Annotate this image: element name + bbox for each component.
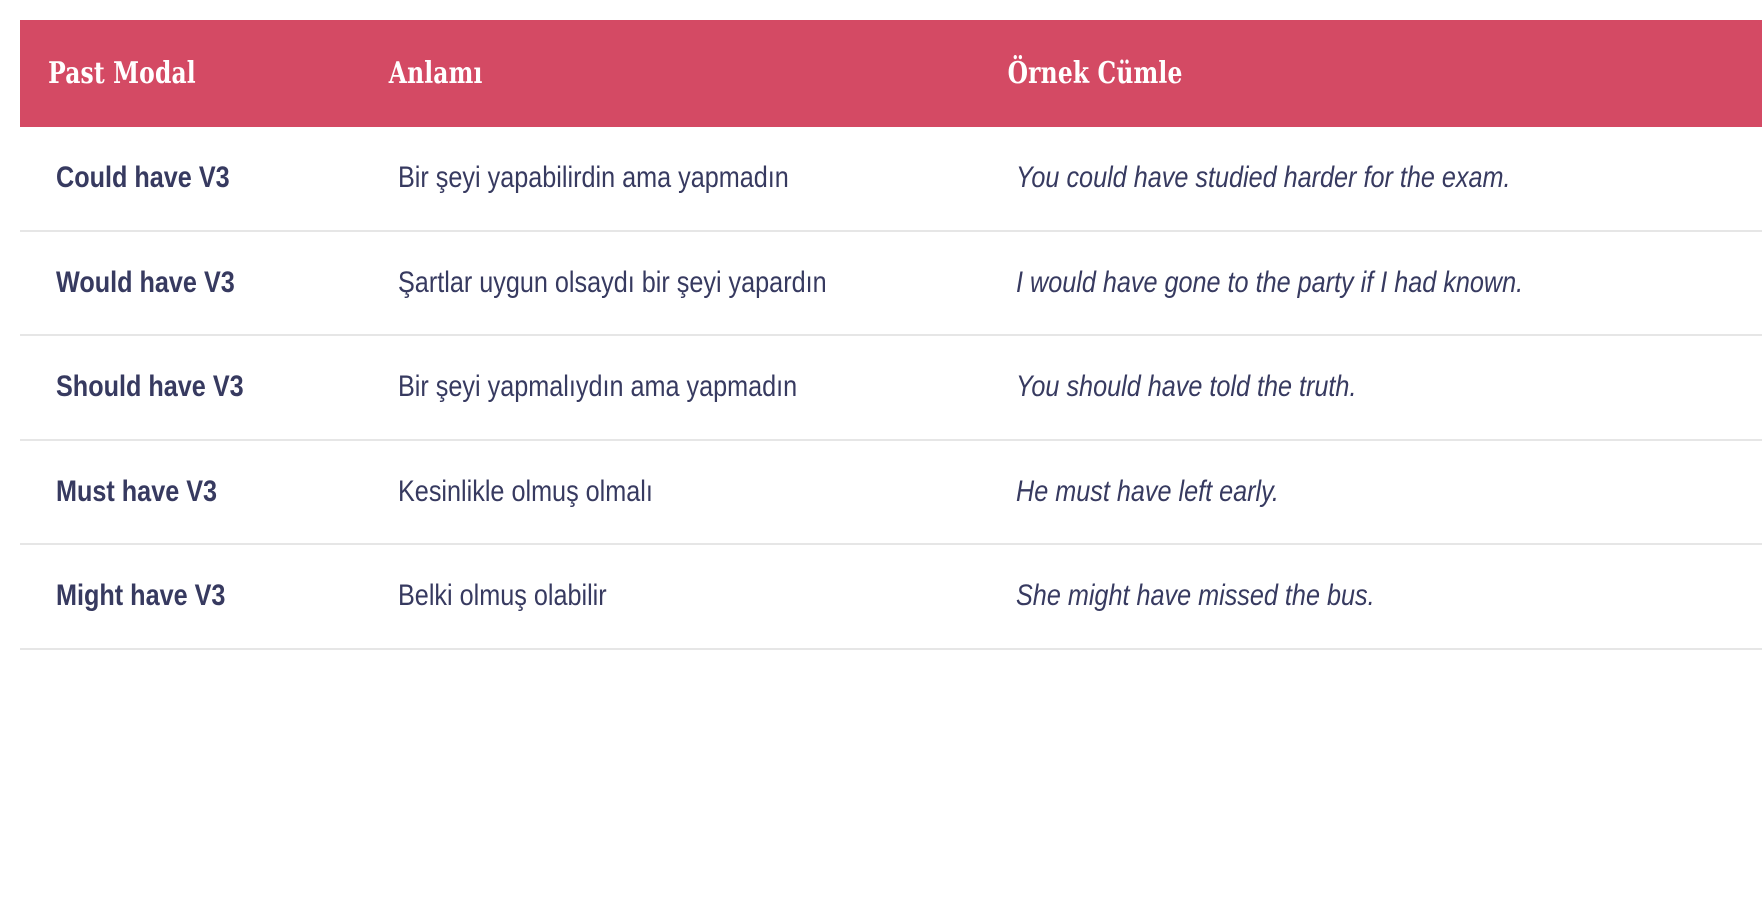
cell-anlami: Belki olmuş olabilir xyxy=(356,544,978,649)
cell-past-modal: Might have V3 xyxy=(20,544,356,649)
table-header-row: Past Modal Anlamı Örnek Cümle xyxy=(20,20,1762,127)
column-header-past-modal-label: Past Modal xyxy=(48,56,196,91)
table-row: Might have V3 Belki olmuş olabilir She m… xyxy=(20,544,1762,649)
cell-past-modal: Should have V3 xyxy=(20,335,356,440)
cell-ornek-cumle: You should have told the truth. xyxy=(978,335,1762,440)
past-modals-table: Past Modal Anlamı Örnek Cümle Could have… xyxy=(20,20,1762,650)
cell-past-modal-text: Should have V3 xyxy=(56,360,328,415)
cell-anlami: Şartlar uygun olsaydı bir şeyi yapardın xyxy=(356,231,978,336)
cell-anlami-text: Şartlar uygun olsaydı bir şeyi yapardın xyxy=(398,256,950,311)
cell-past-modal-text: Would have V3 xyxy=(56,256,328,311)
cell-ornek-cumle: I would have gone to the party if I had … xyxy=(978,231,1762,336)
cell-ornek-cumle-text: He must have left early. xyxy=(1016,465,1762,520)
cell-ornek-cumle-text: I would have gone to the party if I had … xyxy=(1016,256,1762,311)
cell-past-modal: Could have V3 xyxy=(20,127,356,231)
cell-anlami: Bir şeyi yapmalıydın ama yapmadın xyxy=(356,335,978,440)
cell-past-modal-text: Must have V3 xyxy=(56,465,328,520)
cell-past-modal-text: Could have V3 xyxy=(56,151,328,206)
past-modals-table-container: Past Modal Anlamı Örnek Cümle Could have… xyxy=(0,0,1762,650)
table-row: Should have V3 Bir şeyi yapmalıydın ama … xyxy=(20,335,1762,440)
cell-ornek-cumle: She might have missed the bus. xyxy=(978,544,1762,649)
table-row: Could have V3 Bir şeyi yapabilirdin ama … xyxy=(20,127,1762,231)
table-body: Could have V3 Bir şeyi yapabilirdin ama … xyxy=(20,127,1762,649)
column-header-ornek-cumle-label: Örnek Cümle xyxy=(1008,56,1183,91)
cell-anlami: Bir şeyi yapabilirdin ama yapmadın xyxy=(356,127,978,231)
column-header-anlami: Anlamı xyxy=(356,20,841,127)
table-row: Would have V3 Şartlar uygun olsaydı bir … xyxy=(20,231,1762,336)
cell-anlami: Kesinlikle olmuş olmalı xyxy=(356,440,978,545)
cell-ornek-cumle-text: She might have missed the bus. xyxy=(1016,569,1762,624)
column-header-anlami-label: Anlamı xyxy=(389,56,483,91)
cell-ornek-cumle-text: You could have studied harder for the ex… xyxy=(1016,151,1762,206)
cell-anlami-text: Kesinlikle olmuş olmalı xyxy=(398,465,950,520)
table-header: Past Modal Anlamı Örnek Cümle xyxy=(20,20,1762,127)
cell-anlami-text: Bir şeyi yapabilirdin ama yapmadın xyxy=(398,151,950,206)
table-row: Must have V3 Kesinlikle olmuş olmalı He … xyxy=(20,440,1762,545)
column-header-ornek-cumle: Örnek Cümle xyxy=(978,20,1669,127)
cell-ornek-cumle: You could have studied harder for the ex… xyxy=(978,127,1762,231)
column-header-past-modal: Past Modal xyxy=(20,20,282,127)
cell-anlami-text: Bir şeyi yapmalıydın ama yapmadın xyxy=(398,360,950,415)
cell-ornek-cumle: He must have left early. xyxy=(978,440,1762,545)
cell-past-modal-text: Might have V3 xyxy=(56,569,328,624)
cell-past-modal: Would have V3 xyxy=(20,231,356,336)
cell-anlami-text: Belki olmuş olabilir xyxy=(398,569,950,624)
cell-past-modal: Must have V3 xyxy=(20,440,356,545)
cell-ornek-cumle-text: You should have told the truth. xyxy=(1016,360,1762,415)
